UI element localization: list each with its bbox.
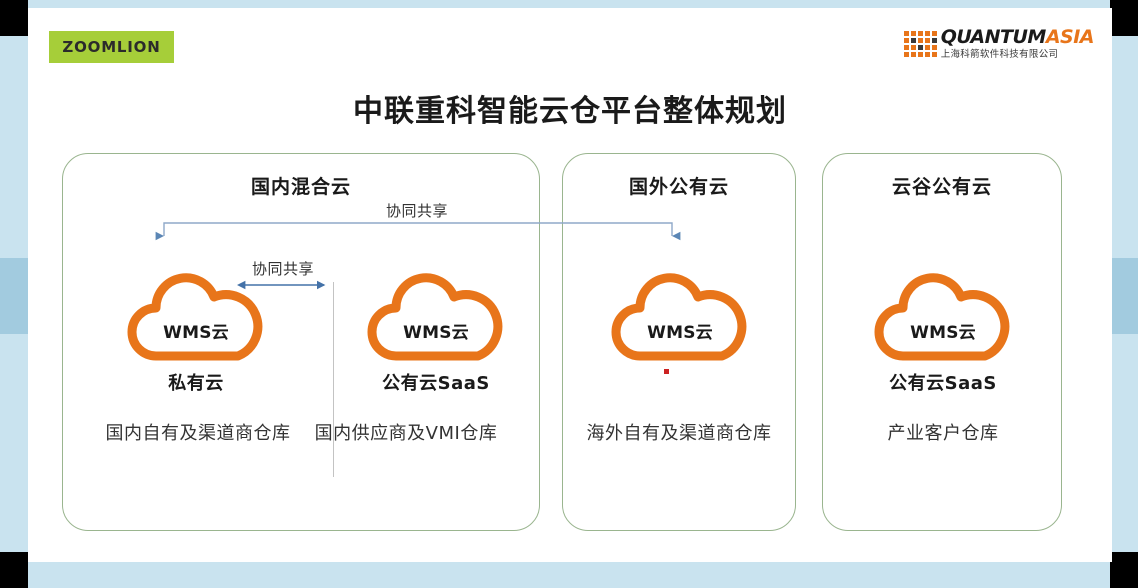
corner-marker-top-right bbox=[1110, 0, 1138, 36]
side-accent-right bbox=[1110, 258, 1138, 334]
quantumasia-name-secondary: ASIA bbox=[1046, 26, 1094, 48]
panel-title: 国外公有云 bbox=[563, 172, 795, 199]
panel-foot-label-domestic-vmi: 国内供应商及VMI仓库 bbox=[281, 419, 531, 445]
quantumasia-company-name: 上海科箭软件科技有限公司 bbox=[941, 50, 1094, 60]
zoomlion-logo: ZOOMLION bbox=[49, 31, 174, 63]
panel-title: 国内混合云 bbox=[63, 172, 539, 199]
quantumasia-logo: QUANTUMASIA 上海科箭软件科技有限公司 bbox=[904, 28, 1094, 60]
cloud-sub-label-yungu-saas: 公有云SaaS bbox=[853, 369, 1033, 395]
cloud-sub-label-private: 私有云 bbox=[106, 369, 286, 395]
cloud-node-yungu[interactable]: WMS云 bbox=[873, 268, 1013, 364]
cloud-label: WMS云 bbox=[610, 318, 750, 343]
slide-root: ZOOMLION QUANTUMASIA 上海科箭软件科技有限公司 中联重科智能… bbox=[0, 0, 1138, 588]
panel-foot-label-overseas: 海外自有及渠道商仓库 bbox=[568, 419, 790, 445]
panel-foot-label-yungu: 产业客户仓库 bbox=[843, 419, 1043, 445]
cloud-label: WMS云 bbox=[366, 318, 506, 343]
cloud-sub-label-public-saas: 公有云SaaS bbox=[346, 369, 526, 395]
quantumasia-wordmark: QUANTUMASIA 上海科箭软件科技有限公司 bbox=[941, 28, 1094, 60]
corner-marker-bottom-left bbox=[0, 552, 28, 588]
panel-yungu-public-cloud: 云谷公有云 WMS云 公有云SaaS 产业客户仓库 bbox=[822, 153, 1062, 531]
cloud-label: WMS云 bbox=[873, 318, 1013, 343]
corner-marker-bottom-right bbox=[1110, 552, 1138, 588]
cloud-node-public-saas[interactable]: WMS云 bbox=[366, 268, 506, 364]
cloud-label: WMS云 bbox=[126, 318, 266, 343]
zoomlion-logo-text: ZOOMLION bbox=[62, 38, 160, 56]
panel-domestic-hybrid-cloud: 国内混合云 WMS云 私有云 国内自有及渠道商仓库 WMS云 公有云SaaS 国… bbox=[62, 153, 540, 531]
cloud-node-private[interactable]: WMS云 bbox=[126, 268, 266, 364]
panel-divider bbox=[333, 282, 334, 477]
panel-title: 云谷公有云 bbox=[823, 172, 1061, 199]
cloud-node-overseas[interactable]: WMS云 bbox=[610, 268, 750, 364]
corner-marker-top-left bbox=[0, 0, 28, 36]
red-dot-marker bbox=[664, 369, 669, 374]
side-accent-left bbox=[0, 258, 28, 334]
quantumasia-dot-grid-icon bbox=[904, 31, 937, 57]
quantumasia-name-primary: QUANTUM bbox=[941, 26, 1046, 48]
page-title: 中联重科智能云仓平台整体规划 bbox=[28, 86, 1112, 130]
slide-canvas: ZOOMLION QUANTUMASIA 上海科箭软件科技有限公司 中联重科智能… bbox=[28, 8, 1112, 562]
panel-overseas-public-cloud: 国外公有云 WMS云 海外自有及渠道商仓库 bbox=[562, 153, 796, 531]
